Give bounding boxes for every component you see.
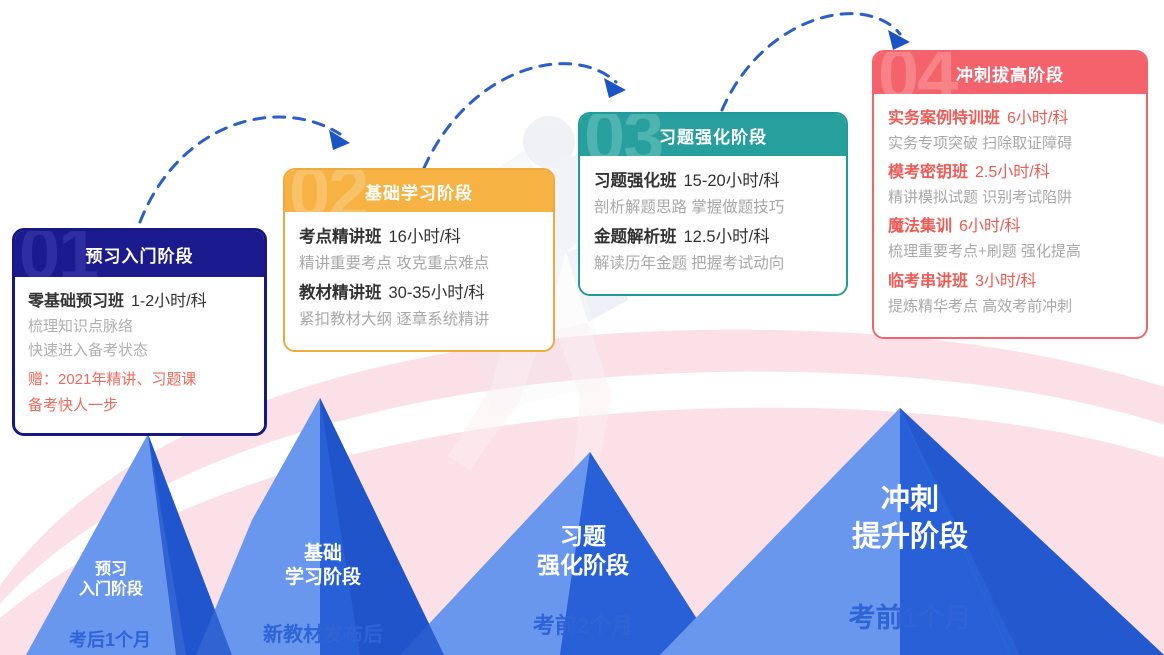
stage-card-2-header: 02 基础学习阶段 [285,170,553,212]
mountain-label-2: 基础 学习阶段 [253,542,393,591]
course-headline: 零基础预习班1-2小时/科 [28,289,251,315]
course-hours: 30-35小时/科 [389,284,485,302]
mountain-label-1: 预习 入门阶段 [57,560,165,601]
stage-card-2[interactable]: 02 基础学习阶段 考点精讲班16小时/科 精讲重要考点 攻克重点难点 教材精讲… [283,168,555,352]
course-item: 模考密钥班2.5小时/科 精讲模拟试题 识别考试陷阱 [888,160,1132,210]
mountain-label-3-line2: 强化阶段 [498,551,668,580]
course-headline: 魔法集训6小时/科 [888,214,1132,240]
course-desc: 紧扣教材大纲 逐章系统精讲 [299,307,539,332]
course-item: 实务案例特训班6小时/科 实务专项突破 扫除取证障碍 [888,106,1132,156]
course-name: 零基础预习班 [28,293,124,310]
mountain-label-3-line1: 习题 [560,523,606,549]
course-desc: 提炼精华考点 高效考前冲刺 [888,295,1132,319]
gift-note: 赠：2021年精讲、习题课 [28,368,251,391]
course-desc: 快速进入备考状态 [28,339,251,363]
stage-card-3[interactable]: 03 习题强化阶段 习题强化班15-20小时/科 剖析解题思路 掌握做题技巧 金… [578,112,848,296]
course-item: 教材精讲班30-35小时/科 紧扣教材大纲 逐章系统精讲 [299,280,539,332]
mountain-label-1-line1: 预习 [95,561,127,578]
mountain-when-4: 考前1个月 [790,596,1030,635]
course-item: 魔法集训6小时/科 梳理重要考点+刷题 强化提高 [888,214,1132,264]
course-headline: 习题强化班15-20小时/科 [594,168,832,195]
course-name: 模考密钥班 [888,164,968,181]
stage-card-4-title: 冲刺拔高阶段 [956,61,1064,86]
course-name: 魔法集训 [888,218,952,235]
course-headline: 模考密钥班2.5小时/科 [888,160,1132,186]
course-desc: 精讲重要考点 攻克重点难点 [299,251,539,276]
stage-number-watermark-2: 02 [289,170,367,212]
mountain-when-1: 考后1个月 [45,626,175,652]
course-desc: 解读历年金题 把握考试动向 [594,251,832,276]
stage-card-1-body: 零基础预习班1-2小时/科 梳理知识点脉络 快速进入备考状态 赠：2021年精讲… [15,277,264,433]
course-desc: 剖析解题思路 掌握做题技巧 [594,195,832,220]
stage-number-watermark-3: 03 [584,114,662,156]
mountain-label-2-line1: 基础 [304,543,342,564]
course-hours: 1-2小时/科 [131,293,207,310]
course-item: 考点精讲班16小时/科 精讲重要考点 攻克重点难点 [299,224,539,276]
mountain-when-2: 新教材发布后 [213,618,433,647]
course-name: 临考串讲班 [888,273,968,290]
stage-card-4[interactable]: 04 冲刺拔高阶段 实务案例特训班6小时/科 实务专项突破 扫除取证障碍 模考密… [872,50,1148,339]
course-name: 金题解析班 [594,228,677,246]
course-desc: 实务专项突破 扫除取证障碍 [888,132,1132,156]
course-desc: 精讲模拟试题 识别考试陷阱 [888,186,1132,210]
course-item: 金题解析班12.5小时/科 解读历年金题 把握考试动向 [594,224,832,276]
stage-card-1-header: 01 预习入门阶段 [15,231,264,277]
course-hours: 6小时/科 [959,218,1020,235]
course-item: 习题强化班15-20小时/科 剖析解题思路 掌握做题技巧 [594,168,832,220]
course-desc: 梳理知识点脉络 [28,315,251,339]
course-hours: 12.5小时/科 [684,228,770,246]
course-item: 零基础预习班1-2小时/科 梳理知识点脉络 快速进入备考状态 [28,289,251,364]
stage-card-3-header: 03 习题强化阶段 [580,114,846,156]
stage-card-3-title: 习题强化阶段 [659,123,767,148]
course-name: 实务案例特训班 [888,110,1000,127]
course-name: 习题强化班 [594,172,677,190]
mountain-when-3: 考前2个月 [468,608,698,640]
stage-card-3-body: 习题强化班15-20小时/科 剖析解题思路 掌握做题技巧 金题解析班12.5小时… [580,156,846,294]
stage-card-2-body: 考点精讲班16小时/科 精讲重要考点 攻克重点难点 教材精讲班30-35小时/科… [285,212,553,350]
mountain-label-3: 习题 强化阶段 [498,522,668,581]
infographic-stage: 01 预习入门阶段 零基础预习班1-2小时/科 梳理知识点脉络 快速进入备考状态… [0,0,1164,655]
mountain-label-4: 冲刺 提升阶段 [800,482,1020,556]
gift-note: 备考快人一步 [28,394,251,417]
course-headline: 实务案例特训班6小时/科 [888,106,1132,132]
stage-number-watermark-4: 04 [878,52,956,94]
course-headline: 考点精讲班16小时/科 [299,224,539,251]
course-headline: 金题解析班12.5小时/科 [594,224,832,251]
course-hours: 3小时/科 [975,273,1036,290]
stage-card-4-header: 04 冲刺拔高阶段 [874,52,1146,94]
course-hours: 2.5小时/科 [975,164,1050,181]
stage-card-1[interactable]: 01 预习入门阶段 零基础预习班1-2小时/科 梳理知识点脉络 快速进入备考状态… [12,228,267,436]
course-headline: 临考串讲班3小时/科 [888,269,1132,295]
course-hours: 15-20小时/科 [684,172,780,190]
stage-card-1-title: 预习入门阶段 [86,242,194,267]
course-name: 考点精讲班 [299,228,382,246]
course-hours: 6小时/科 [1007,110,1068,127]
mountain-label-4-line2: 提升阶段 [800,519,1020,556]
mountain-label-1-line2: 入门阶段 [57,580,165,600]
stage-card-4-body: 实务案例特训班6小时/科 实务专项突破 扫除取证障碍 模考密钥班2.5小时/科 … [874,94,1146,337]
course-item: 临考串讲班3小时/科 提炼精华考点 高效考前冲刺 [888,269,1132,319]
course-name: 教材精讲班 [299,284,382,302]
stage-card-2-title: 基础学习阶段 [365,179,473,204]
course-desc: 梳理重要考点+刷题 强化提高 [888,240,1132,264]
mountain-label-2-line2: 学习阶段 [253,566,393,590]
mountain-label-4-line1: 冲刺 [881,484,939,516]
course-hours: 16小时/科 [389,228,461,246]
course-headline: 教材精讲班30-35小时/科 [299,280,539,307]
